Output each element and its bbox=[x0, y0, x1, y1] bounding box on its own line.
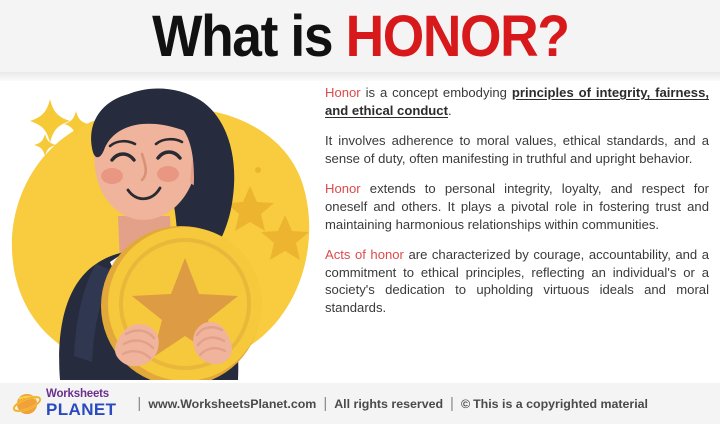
footer-rights-text: All rights reserved bbox=[334, 397, 443, 411]
sparkle-large bbox=[30, 99, 70, 143]
copyright-icon: © bbox=[461, 397, 470, 411]
page-footer: Worksheets PLANET | www.WorksheetsPlanet… bbox=[0, 383, 720, 424]
worksheets-planet-logo[interactable]: Worksheets PLANET bbox=[12, 389, 116, 418]
paragraph-2-run-1: It involves adherence to moral values, e… bbox=[325, 133, 709, 166]
footer-separator-1: | bbox=[137, 395, 141, 412]
page-title: What is HONOR? bbox=[152, 7, 568, 67]
paragraph-3-run-2: extends to personal integrity, loyalty, … bbox=[325, 181, 709, 231]
article-body: Honor is a concept embodying principles … bbox=[325, 84, 709, 317]
paragraph-1-run-2: is a concept embodying bbox=[361, 85, 512, 100]
paragraph-2: It involves adherence to moral values, e… bbox=[325, 132, 709, 167]
footer-separator-3: | bbox=[450, 395, 454, 412]
planet-icon bbox=[12, 390, 42, 418]
logo-wordmark: Worksheets PLANET bbox=[46, 389, 116, 418]
worksheet-page: What is HONOR? bbox=[0, 0, 720, 424]
woman-cheek-left bbox=[101, 168, 123, 184]
dot-accent bbox=[255, 167, 261, 173]
keyword-honor-1: Honor bbox=[325, 85, 361, 100]
page-title-black-part: What is bbox=[152, 4, 346, 69]
paragraph-1-run-4: . bbox=[448, 103, 452, 118]
footer-website-link[interactable]: www.WorksheetsPlanet.com bbox=[148, 397, 316, 411]
page-header: What is HONOR? bbox=[0, 0, 720, 72]
illustration-woman-holding-gold-medal bbox=[0, 78, 318, 380]
footer-copyright-text: This is a copyrighted material bbox=[473, 397, 648, 411]
paragraph-1: Honor is a concept embodying principles … bbox=[325, 84, 709, 119]
footer-credits: | www.WorksheetsPlanet.com | All rights … bbox=[130, 395, 648, 412]
paragraph-3: Honor extends to personal integrity, loy… bbox=[325, 180, 709, 233]
page-title-red-part: HONOR? bbox=[345, 4, 568, 69]
footer-separator-2: | bbox=[323, 395, 327, 412]
logo-line-planet: PLANET bbox=[46, 401, 116, 418]
paragraph-4: Acts of honor are characterized by coura… bbox=[325, 246, 709, 316]
woman-cheek-right bbox=[157, 166, 179, 182]
keyword-honor-2: Honor bbox=[325, 181, 361, 196]
keyword-acts-of-honor: Acts of honor bbox=[325, 247, 404, 262]
